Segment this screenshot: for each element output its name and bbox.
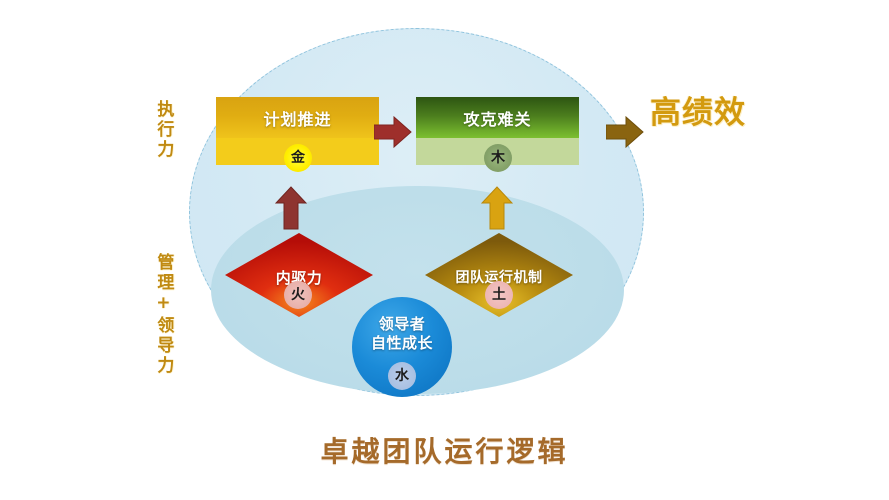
element-badge-earth: 土	[485, 281, 513, 309]
diagram-title: 卓越团队运行逻辑	[0, 430, 889, 470]
arrow-mechanism-up-icon	[481, 186, 513, 234]
arrow-drive-up-icon	[275, 186, 307, 234]
circle-leader-line1: 领导者	[352, 315, 452, 334]
circle-leader-growth-label: 领导者 自性成长	[352, 315, 452, 353]
arrow-plan-to-attack-icon	[374, 116, 412, 152]
process-box-plan-header: 计划推进	[216, 97, 379, 138]
arrow-attack-to-result-icon	[606, 116, 644, 152]
element-badge-metal: 金	[284, 144, 312, 172]
circle-leader-line2: 自性成长	[352, 334, 452, 353]
process-box-attack-label: 攻克难关	[463, 106, 531, 130]
process-box-plan-label: 计划推进	[263, 106, 331, 130]
element-badge-fire: 火	[284, 281, 312, 309]
side-label-management: 管理+领导力	[154, 253, 172, 376]
process-box-attack-header: 攻克难关	[416, 97, 579, 138]
diagram-canvas: 执行力 管理+领导力 计划推进 金 攻克难关 木	[0, 0, 889, 500]
result-label: 高绩效	[650, 95, 760, 132]
element-badge-wood: 木	[484, 144, 512, 172]
side-label-execution: 执行力	[154, 100, 172, 160]
element-badge-water: 水	[388, 362, 416, 390]
